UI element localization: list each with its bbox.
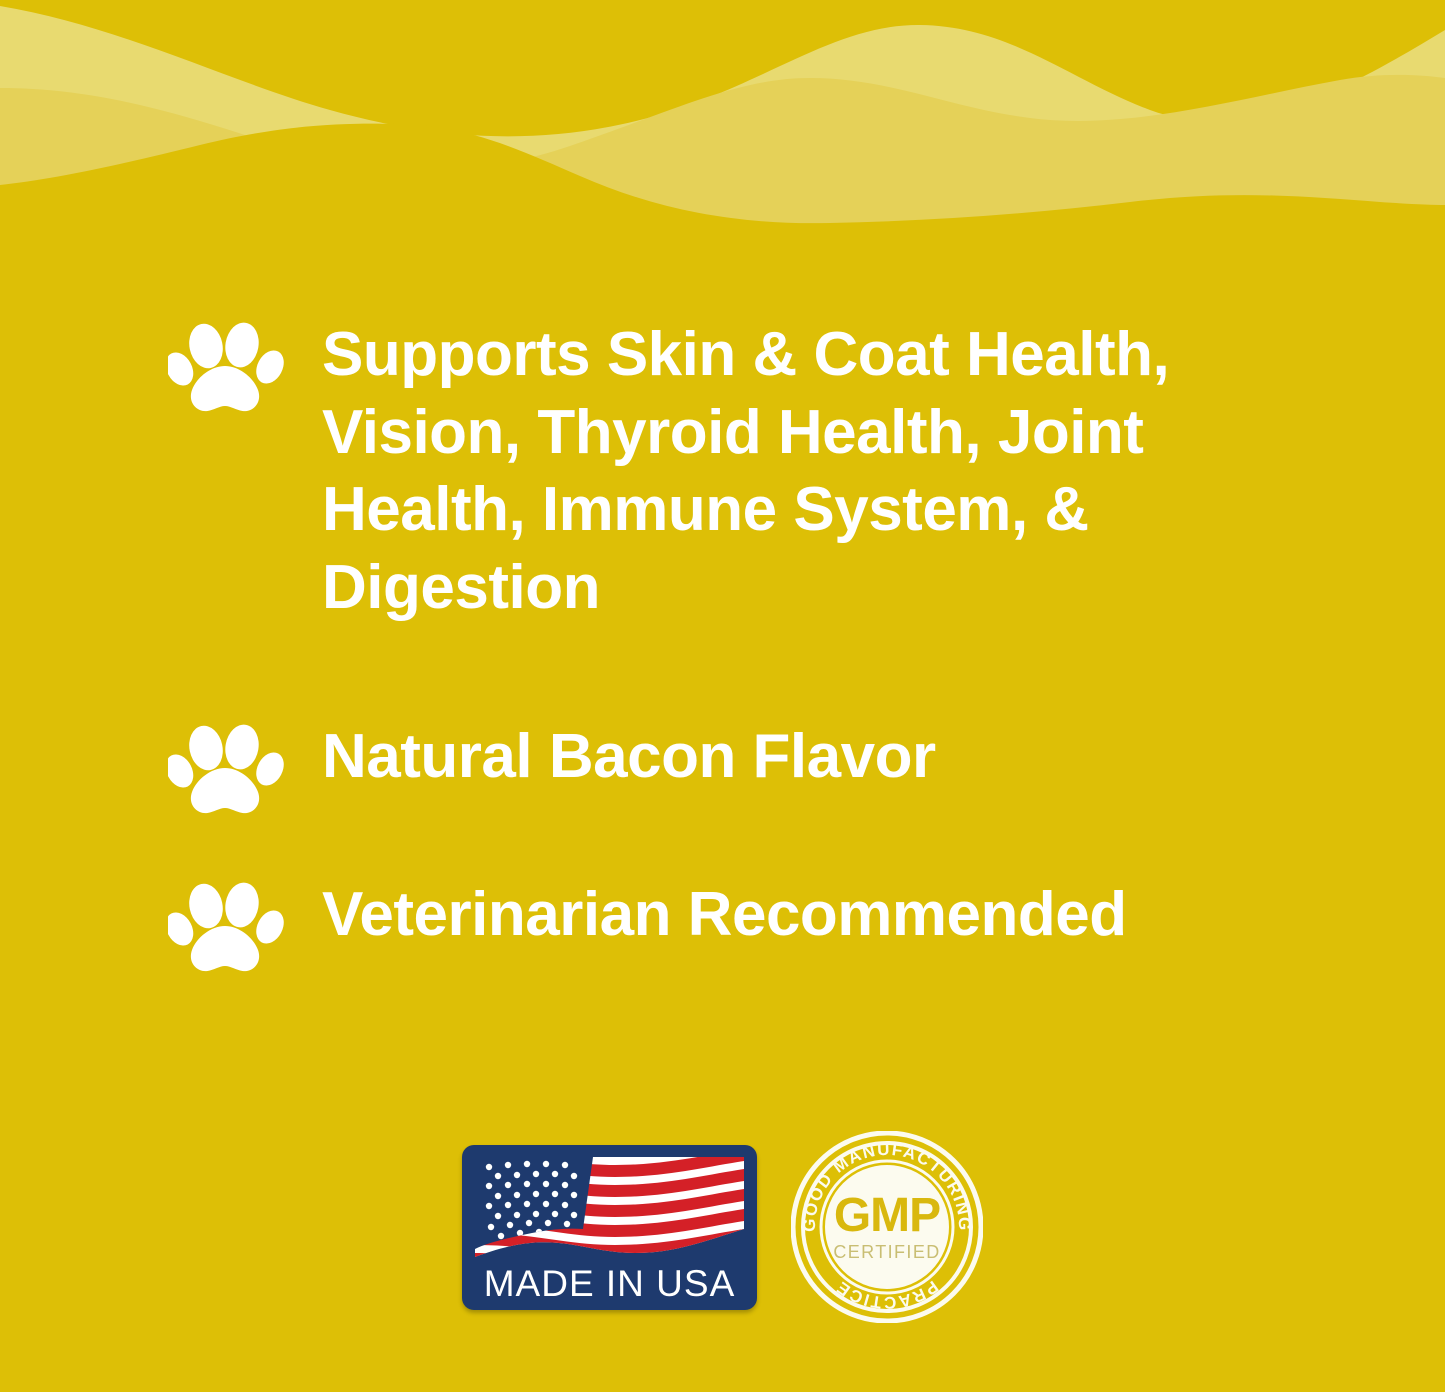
certification-badges: MADE IN USA GOOD MANUFACTURING (0, 1122, 1445, 1332)
benefit-item: Veterinarian Recommended (168, 876, 1127, 974)
paw-print-icon (168, 724, 286, 816)
benefit-text: Supports Skin & Coat Health, Vision, Thy… (322, 316, 1322, 626)
benefit-item: Natural Bacon Flavor (168, 718, 936, 816)
benefit-text: Veterinarian Recommended (322, 876, 1127, 954)
wave-decoration (0, 0, 1445, 250)
gmp-seal-icon: GOOD MANUFACTURING PRACTICE GMP CERTIFIE… (791, 1131, 983, 1323)
made-in-usa-label: MADE IN USA (462, 1263, 757, 1305)
paw-print-icon (168, 322, 286, 414)
benefit-text: Natural Bacon Flavor (322, 718, 936, 796)
made-in-usa-badge: MADE IN USA (462, 1145, 757, 1310)
us-flag-icon (475, 1157, 744, 1261)
paw-print-icon (168, 882, 286, 974)
product-infographic: Supports Skin & Coat Health, Vision, Thy… (0, 0, 1445, 1392)
benefit-item: Supports Skin & Coat Health, Vision, Thy… (168, 316, 1322, 626)
